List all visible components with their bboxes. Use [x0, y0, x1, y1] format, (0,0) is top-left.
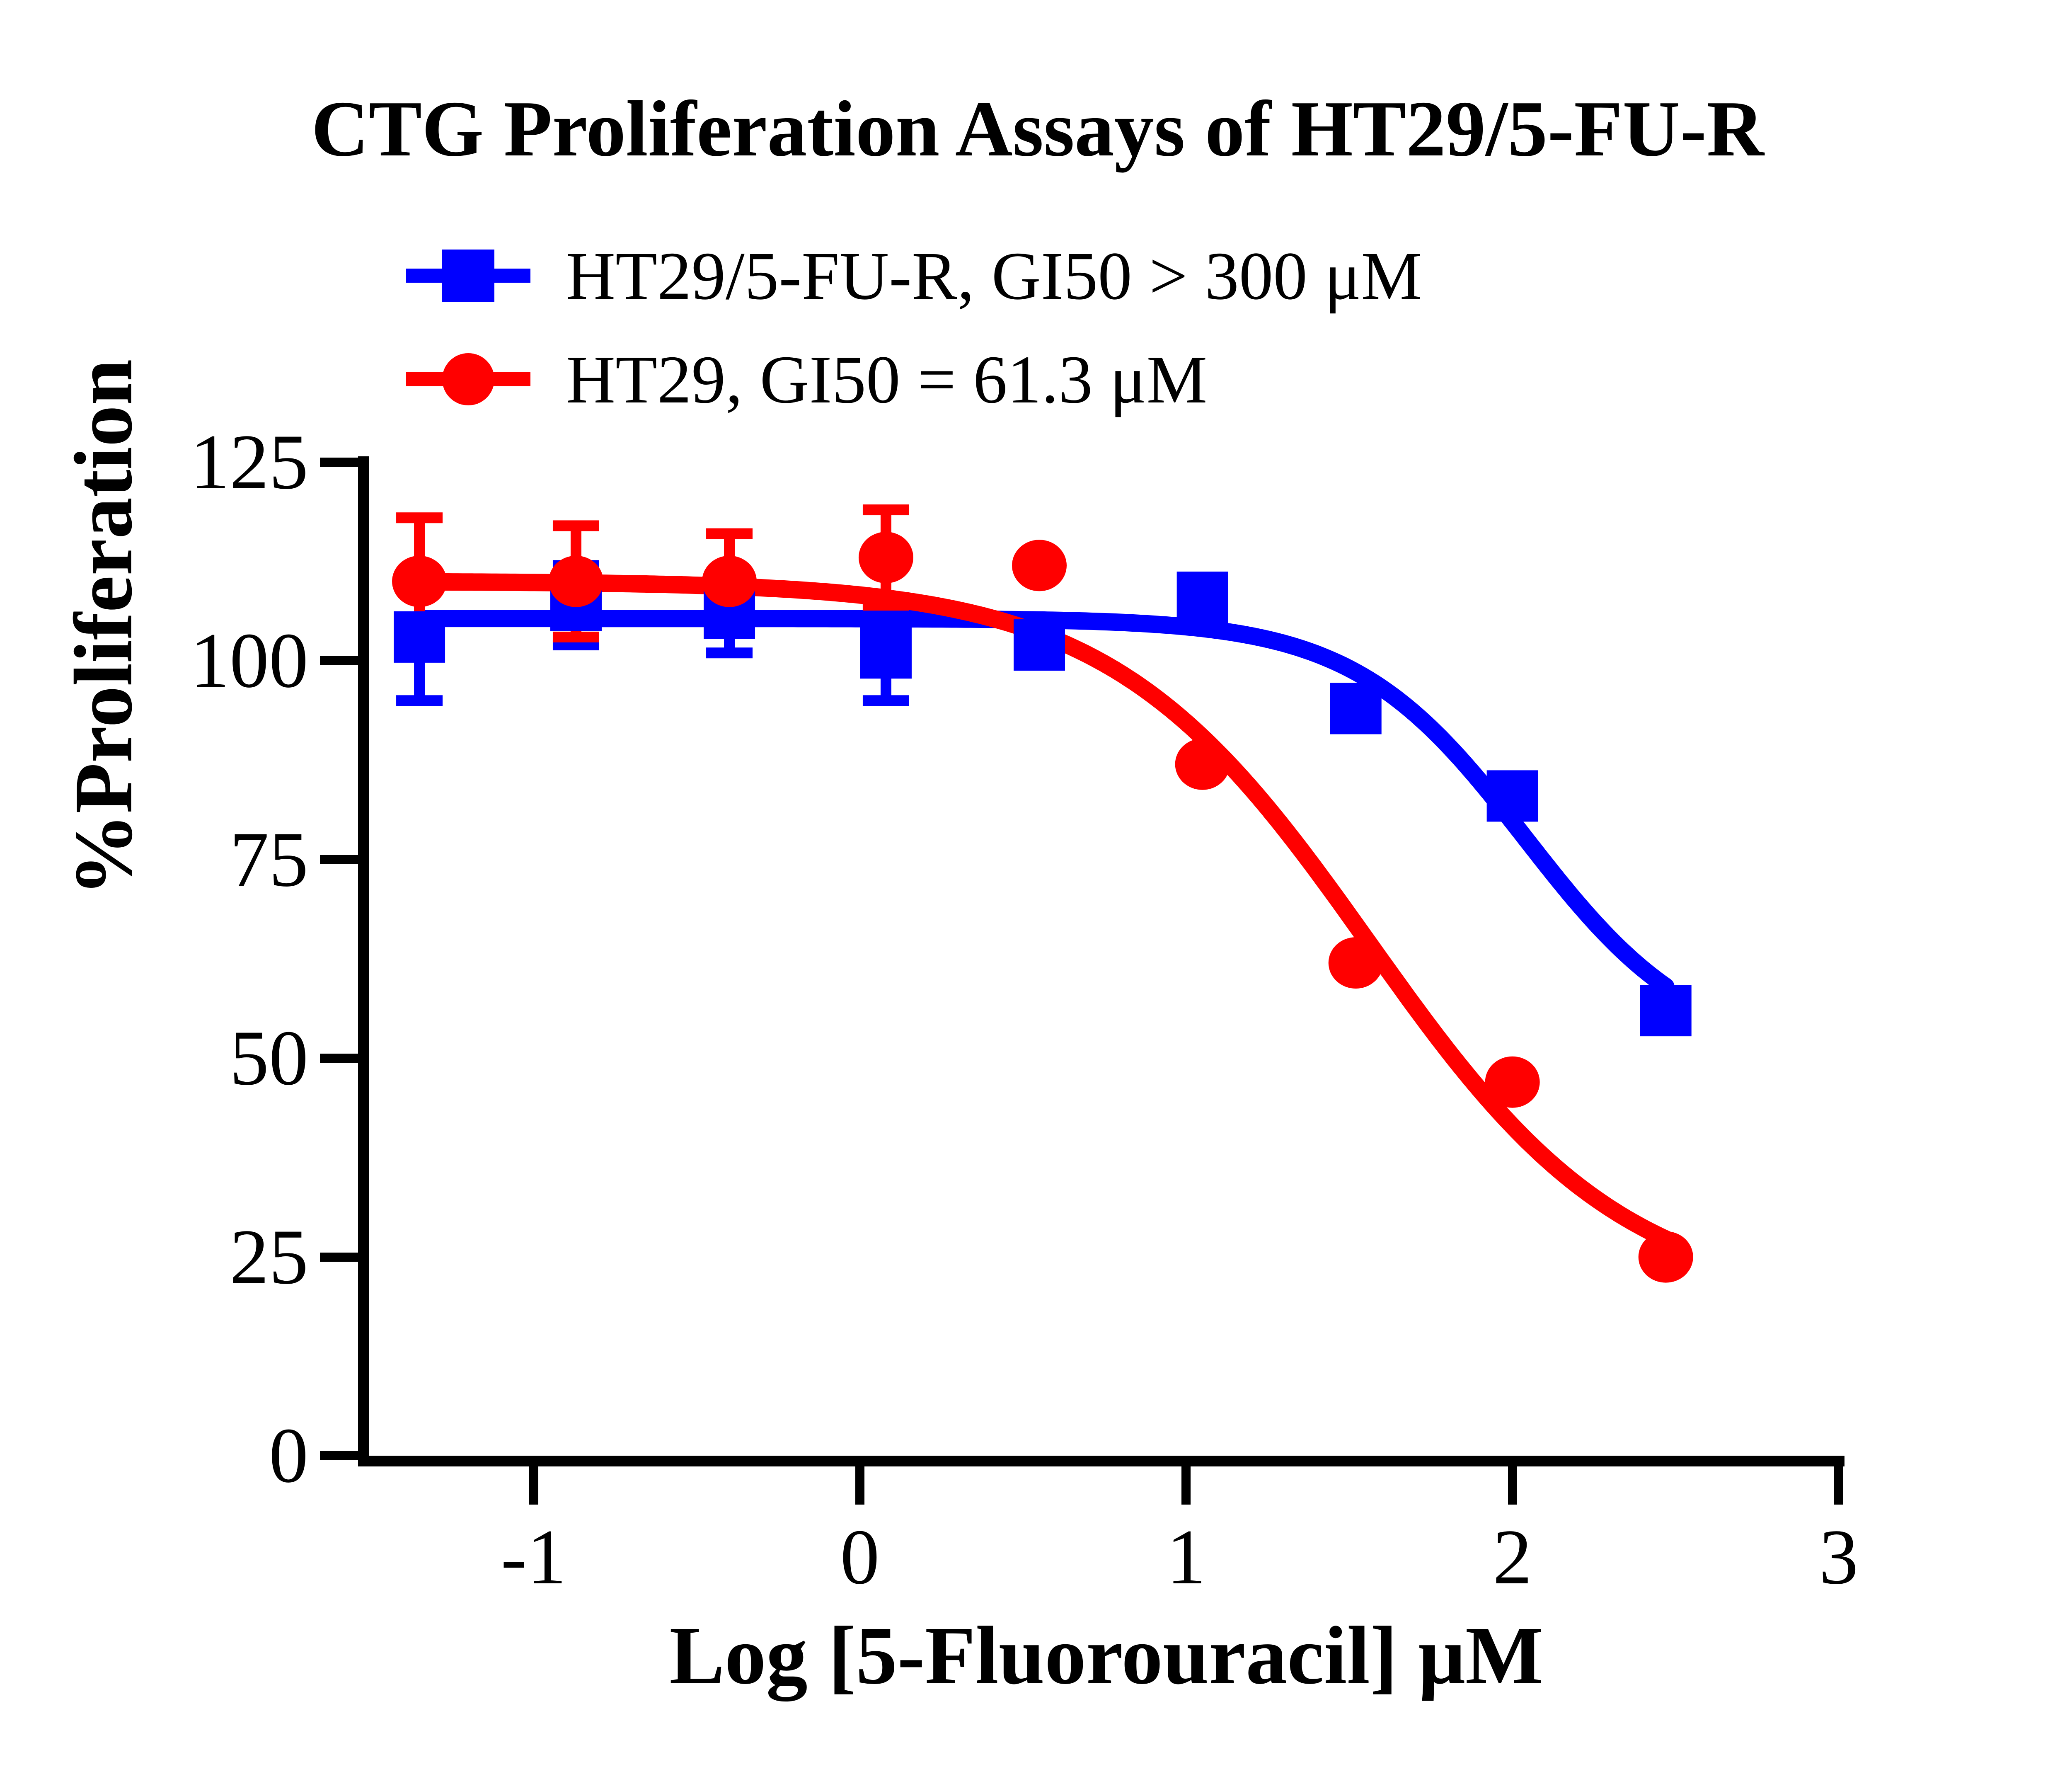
x-tick--1: [529, 1466, 538, 1505]
data-point-blue-8[interactable]: [1640, 985, 1692, 1036]
figure-root: CTG Proliferation Assays of HT29/5-FU-R …: [0, 0, 2072, 1774]
y-tick-75: [320, 855, 358, 864]
y-tick-0: [320, 1451, 358, 1460]
errorbar-cap-bottom-blue-2: [706, 647, 753, 658]
data-point-blue-0[interactable]: [394, 611, 445, 663]
errorbar-cap-top-red-2: [706, 528, 753, 539]
x-axis-title: Log [5-Fluorouracil] μM: [369, 1608, 1844, 1703]
errorbar-cap-top-red-1: [553, 520, 599, 531]
data-point-red-0[interactable]: [392, 556, 447, 607]
y-tick-label-50: 50: [0, 1013, 308, 1103]
y-axis-spine: [358, 456, 369, 1466]
x-tick-3: [1834, 1466, 1843, 1505]
series-layer: [392, 504, 1693, 1283]
plot-area: [0, 0, 2072, 1774]
errorbar-cap-bottom-blue-3: [863, 695, 909, 706]
errorbar-cap-bottom-red-3: [863, 600, 909, 611]
x-tick-label-3: 3: [1819, 1512, 1859, 1602]
x-tick-2: [1508, 1466, 1517, 1505]
data-point-blue-5[interactable]: [1177, 572, 1228, 623]
data-point-blue-6[interactable]: [1330, 683, 1382, 734]
data-point-red-3[interactable]: [859, 532, 913, 583]
y-tick-50: [320, 1054, 358, 1063]
data-point-red-1[interactable]: [549, 556, 603, 607]
y-tick-125: [320, 458, 358, 467]
errorbar-cap-bottom-blue-0: [396, 695, 443, 706]
data-point-blue-4[interactable]: [1014, 619, 1065, 671]
data-point-red-5[interactable]: [1175, 739, 1230, 790]
x-tick-0: [855, 1466, 864, 1505]
x-tick-1: [1181, 1466, 1191, 1505]
errorbar-cap-top-red-0: [396, 512, 443, 523]
x-tick-label-2: 2: [1493, 1512, 1532, 1602]
x-tick-label-1: 1: [1167, 1512, 1206, 1602]
data-point-blue-7[interactable]: [1487, 770, 1538, 822]
x-tick-label-0: 0: [840, 1512, 879, 1602]
data-point-red-2[interactable]: [702, 556, 757, 607]
errorbar-cap-top-red-3: [863, 504, 909, 515]
data-point-blue-3[interactable]: [860, 627, 912, 679]
y-axis-title: %Proliferation: [56, 234, 151, 1022]
x-tick-label--1: -1: [501, 1512, 566, 1602]
data-point-red-6[interactable]: [1329, 937, 1383, 989]
y-tick-100: [320, 656, 358, 665]
curve-red: [419, 582, 1666, 1239]
data-point-red-8[interactable]: [1639, 1231, 1693, 1283]
data-point-red-7[interactable]: [1485, 1057, 1540, 1108]
y-tick-label-125: 125: [0, 417, 308, 507]
y-tick-25: [320, 1253, 358, 1262]
plot-svg: [0, 0, 2072, 1774]
y-tick-label-75: 75: [0, 814, 308, 905]
x-axis-spine: [358, 1456, 1844, 1466]
y-tick-label-100: 100: [0, 616, 308, 706]
errorbar-cap-bottom-red-1: [553, 632, 599, 642]
data-point-red-4[interactable]: [1012, 540, 1067, 591]
y-tick-label-0: 0: [0, 1410, 308, 1501]
curve-blue: [419, 618, 1666, 986]
y-tick-label-25: 25: [0, 1212, 308, 1302]
